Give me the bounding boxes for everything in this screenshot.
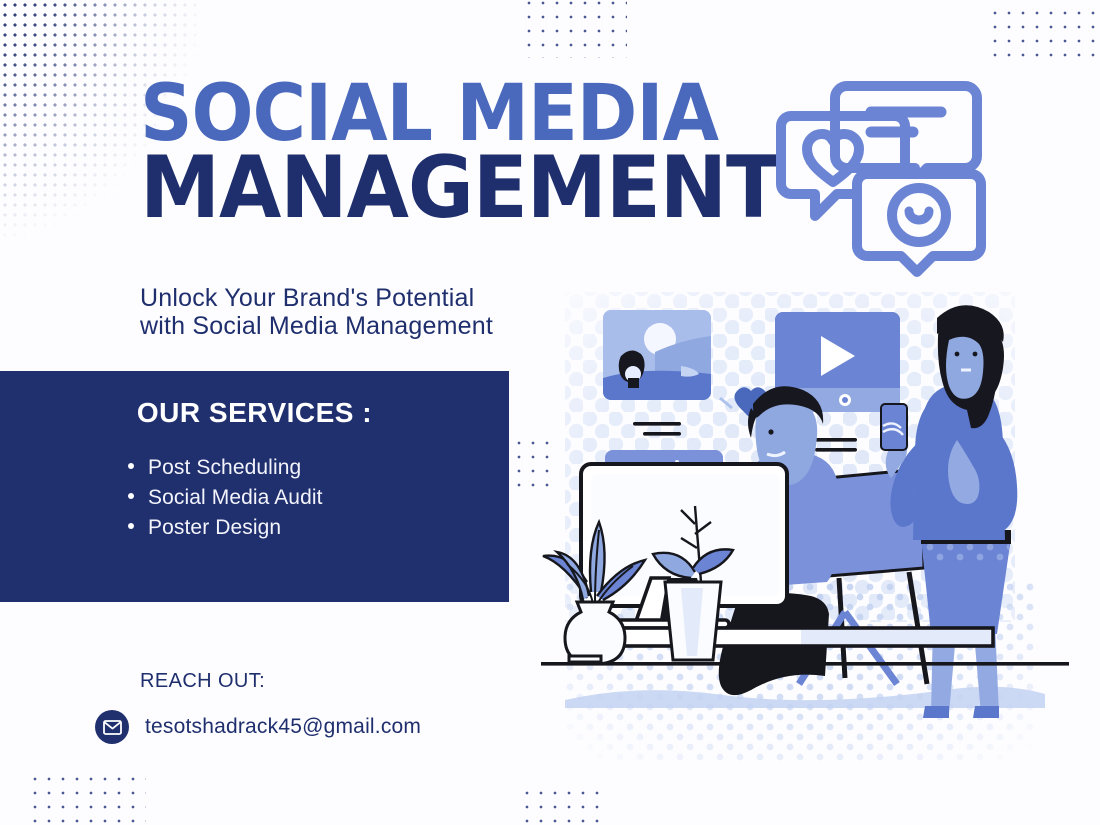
dot-grid-bottom-center-icon: [520, 786, 606, 825]
poster-canvas: SOCIAL MEDIA MANAGEMENT Unlock Your Bran…: [0, 0, 1100, 825]
list-item: Poster Design: [128, 513, 509, 543]
social-media-workspace-illustration: [505, 282, 1100, 782]
headline-line-2: MANAGEMENT: [140, 152, 780, 224]
list-item: Post Scheduling: [128, 453, 509, 483]
services-heading: OUR SERVICES :: [0, 371, 509, 429]
page-title: SOCIAL MEDIA MANAGEMENT: [140, 82, 755, 224]
list-item: Social Media Audit: [128, 483, 509, 513]
chat-bubble-smiley-icon: [857, 174, 981, 272]
reach-out-label: REACH OUT:: [140, 670, 265, 693]
services-list: Post Scheduling Social Media Audit Poste…: [0, 453, 509, 542]
envelope-icon: [95, 710, 129, 744]
dot-grid-top-center-icon: [522, 0, 627, 58]
services-panel: OUR SERVICES : Post Scheduling Social Me…: [0, 371, 509, 602]
email-address[interactable]: tesotshadrack45@gmail.com: [145, 715, 421, 739]
contact-row[interactable]: tesotshadrack45@gmail.com: [95, 710, 421, 744]
subtitle-line-2: with Social Media Management: [140, 312, 493, 340]
dot-grid-top-right-icon: [988, 6, 1100, 66]
subtitle: Unlock Your Brand's Potential with Socia…: [140, 284, 493, 340]
dot-grid-bottom-left-icon: [28, 772, 146, 825]
floor-line: [541, 662, 1069, 666]
chat-bubbles-icon-cluster: [775, 78, 990, 278]
subtitle-line-1: Unlock Your Brand's Potential: [140, 284, 493, 312]
